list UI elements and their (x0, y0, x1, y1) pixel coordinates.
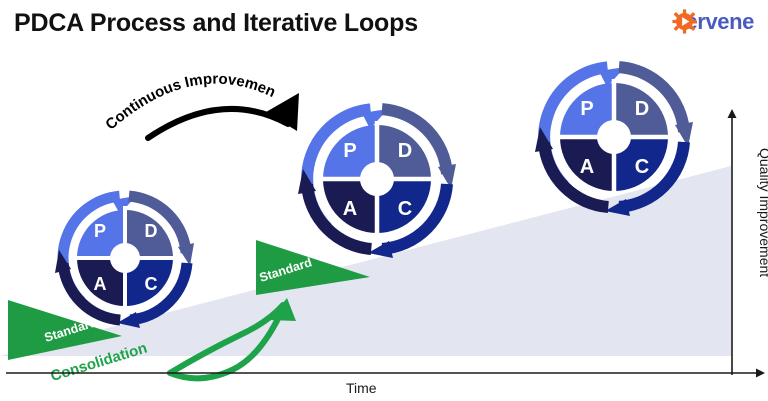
wheel-1-label-D: D (145, 221, 158, 241)
wheel-2-label-C: C (398, 198, 412, 220)
wheel-3-label-A: A (580, 156, 594, 178)
wheel-1-label-P: P (94, 221, 106, 241)
page-title: PDCA Process and Iterative Loops (14, 9, 418, 38)
pdca-wheel-1[interactable]: P D A C (55, 196, 194, 328)
wheel-2-label-D: D (398, 140, 412, 162)
continuous-improvement-arrow-curve (148, 109, 288, 138)
wheel-3-quadrants (556, 79, 672, 195)
pdca-diagram-svg: Standard Standard (0, 0, 768, 401)
wheel-1-label-C: C (145, 274, 158, 294)
x-axis: Time (6, 369, 765, 397)
wheel-2-label-A: A (343, 198, 357, 220)
wheel-3-label-P: P (580, 98, 593, 120)
pdca-wheel-2[interactable]: P D A C (298, 109, 456, 258)
x-axis-arrowhead (756, 369, 765, 378)
y-axis-label: Quality Improvement (757, 148, 768, 277)
y-axis-arrowhead (728, 109, 737, 118)
x-axis-label: Time (346, 380, 377, 396)
y-axis: Quality Improvement (728, 109, 768, 375)
wheel-3-label-C: C (635, 156, 649, 178)
wheel-2-label-P: P (343, 140, 356, 162)
wheel-2-quadrants (319, 121, 435, 237)
consolidation-arrow-curve-0 (170, 370, 232, 378)
wheel-1-label-A: A (94, 274, 107, 294)
wheel-3-label-D: D (635, 98, 649, 120)
diagram-canvas: Standard Standard (0, 0, 768, 401)
wheel-1-quadrants (73, 206, 177, 310)
tervene-logo[interactable]: tervene (672, 9, 754, 35)
